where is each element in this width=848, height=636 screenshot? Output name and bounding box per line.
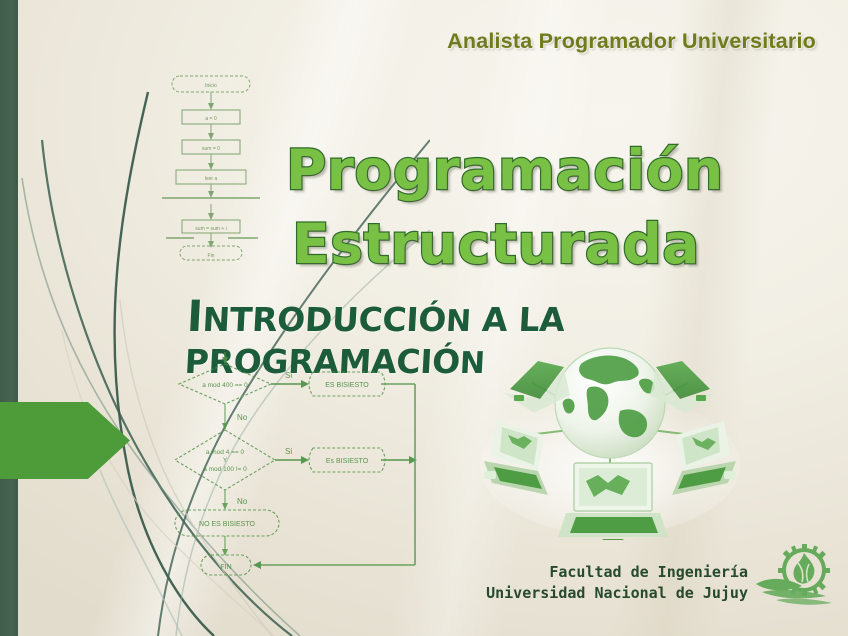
svg-text:NO ES BISIESTO: NO ES BISIESTO: [199, 521, 255, 528]
svg-text:ES BISIESTO: ES BISIESTO: [325, 382, 369, 389]
flowchart-watermark-top: Inicio a = 0 sum = 0 leer a sum = sum + …: [158, 72, 264, 262]
subtitle-part-programacio: PROGRAMACIÓ: [184, 342, 461, 381]
main-title-line-1: Programación: [286, 133, 706, 207]
svg-text:No: No: [237, 497, 248, 506]
subtitle-part-n2: N: [459, 346, 486, 381]
page-title-header: Analista Programador Universitario: [447, 29, 816, 54]
green-chevron-arrow: [0, 402, 130, 479]
svg-text:Inicio: Inicio: [205, 83, 217, 89]
subtitle-part-n: N: [445, 304, 472, 339]
svg-text:sum = sum + i: sum = sum + i: [195, 226, 226, 232]
left-green-bar: [0, 0, 18, 636]
flowchart-watermark-bottom: a mod 400 == 0 ES BISIESTO a mod 4 == 0 …: [163, 352, 433, 592]
svg-text:Es BISIESTO: Es BISIESTO: [326, 458, 369, 465]
svg-text:a mod 400 == 0: a mod 400 == 0: [202, 382, 248, 389]
footer-line-2: Universidad Nacional de Jujuy: [486, 583, 748, 604]
svg-text:a = 0: a = 0: [205, 116, 216, 122]
subtitle-part-ala: A LA: [470, 300, 566, 339]
gear-flame-logo: [754, 542, 838, 612]
svg-text:a mod 100 != 0: a mod 100 != 0: [203, 466, 247, 473]
svg-text:a mod 4 == 0: a mod 4 == 0: [206, 449, 245, 456]
presentation-slide: Analista Programador Universitario: [0, 0, 848, 636]
main-title: Programación Estructurada: [286, 133, 706, 281]
svg-text:No: No: [237, 413, 248, 422]
footer-institution: Facultad de Ingeniería Universidad Nacio…: [486, 562, 748, 604]
svg-text:Y: Y: [223, 457, 228, 464]
svg-text:Fin: Fin: [208, 253, 215, 259]
footer-line-1: Facultad de Ingeniería: [486, 562, 748, 583]
svg-text:FIN: FIN: [220, 564, 231, 571]
svg-text:sum = 0: sum = 0: [202, 146, 220, 152]
main-title-line-2: Estructurada: [286, 207, 706, 281]
subtitle: INTRODUCCIÓN A LA PROGRAMACIÓN: [184, 292, 848, 381]
svg-text:leer a: leer a: [205, 176, 218, 182]
svg-text:Si: Si: [285, 447, 292, 456]
subtitle-part-ntroduccio: NTRODUCCIÓ: [202, 300, 448, 339]
